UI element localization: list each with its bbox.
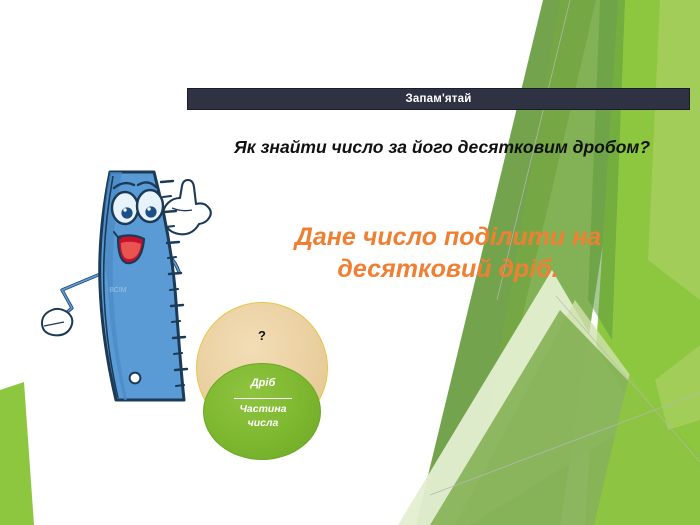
- mascot-pupil-left: [121, 207, 132, 218]
- deco-band-4: [648, 0, 700, 300]
- fraction-bar: [234, 398, 292, 399]
- mascot-eye-glint-right: [147, 207, 150, 210]
- fraction-numerator: Дріб: [204, 377, 322, 391]
- mascot-eye-glint-left: [123, 208, 126, 211]
- mascot-pupil-right: [145, 206, 156, 217]
- title-label: Запам'ятай: [406, 93, 472, 105]
- fraction-ellipse: Дріб Частина числа: [203, 363, 321, 460]
- deco-hairline-3: [556, 296, 700, 462]
- deco-dark-sliver: [588, 0, 625, 340]
- venn-diagram: ? Дріб Частина числа: [196, 302, 336, 460]
- deco-pale-triangle-1: [398, 270, 640, 525]
- deco-pale-triangle-2: [455, 300, 700, 525]
- deco-light-sliver: [655, 345, 700, 430]
- question-text: Як знайти число за його десятковим дробо…: [232, 136, 652, 159]
- deco-left-wedge: [0, 382, 34, 525]
- answer-text: Дане число поділити на десятковий дріб.: [248, 221, 648, 285]
- mascot-left-glove: [42, 309, 72, 335]
- deco-mid-triangle: [430, 310, 700, 525]
- question-mark-label: ?: [196, 328, 328, 343]
- fraction-denominator: Частина числа: [228, 403, 298, 430]
- fraction-expression: Дріб Частина числа: [204, 377, 322, 430]
- deco-hairline-2: [430, 393, 700, 495]
- deco-bright-triangle: [594, 330, 700, 525]
- slide-canvas: ВСІМ Запам'ятай Як знайти число за його …: [0, 0, 700, 525]
- title-banner: Запам'ятай: [187, 88, 690, 110]
- mascot-ruler-hole: [130, 373, 141, 384]
